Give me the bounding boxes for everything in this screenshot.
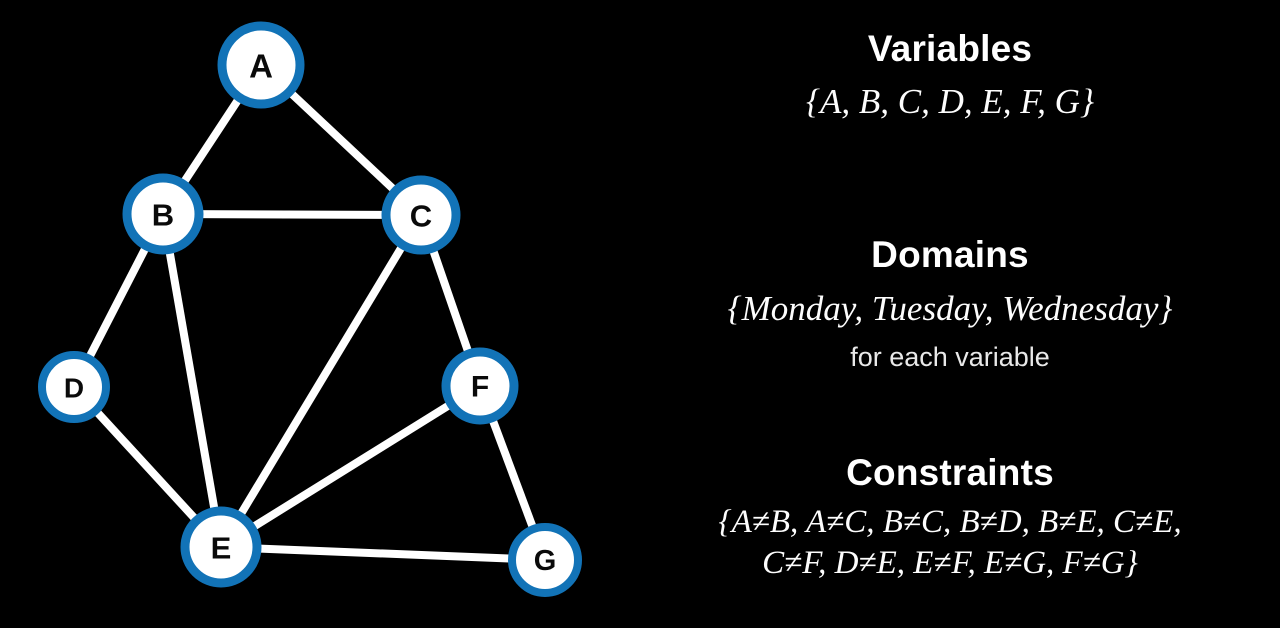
graph-node-d[interactable]: D [42, 355, 106, 419]
node-label-f: F [471, 371, 489, 404]
graph-node-a[interactable]: A [222, 26, 300, 104]
graph-edge-layer [74, 65, 545, 560]
graph-node-b[interactable]: B [127, 178, 199, 250]
graph-edge [221, 215, 421, 547]
definitions-panel: Variables {A, B, C, D, E, F, G} Domains … [620, 0, 1280, 628]
domains-heading: Domains [620, 234, 1280, 275]
graph-edge [221, 547, 545, 560]
node-label-d: D [64, 373, 84, 404]
constraints-heading: Constraints [620, 452, 1280, 493]
variables-heading: Variables [620, 28, 1280, 69]
constraint-graph-svg: ABCDEFG [0, 0, 620, 628]
domains-note: for each variable [620, 341, 1280, 373]
constraints-line-2: C≠F, D≠E, E≠F, E≠G, F≠G} [620, 543, 1280, 583]
node-label-c: C [410, 199, 432, 234]
graph-edge [221, 386, 480, 547]
node-label-a: A [249, 48, 273, 85]
node-label-b: B [152, 198, 174, 233]
graph-node-c[interactable]: C [386, 180, 456, 250]
node-label-g: G [534, 545, 557, 577]
graph-node-g[interactable]: G [512, 527, 578, 593]
constraint-graph-panel: ABCDEFG [0, 0, 620, 628]
constraints-block: Constraints {A≠B, A≠C, B≠C, B≠D, B≠E, C≠… [620, 452, 1280, 583]
variables-set: {A, B, C, D, E, F, G} [620, 81, 1280, 123]
node-label-e: E [211, 531, 232, 566]
variables-block: Variables {A, B, C, D, E, F, G} [620, 28, 1280, 123]
domains-block: Domains {Monday, Tuesday, Wednesday} for… [620, 234, 1280, 374]
domains-set: {Monday, Tuesday, Wednesday} [620, 288, 1280, 330]
graph-node-e[interactable]: E [185, 511, 257, 583]
graph-node-f[interactable]: F [446, 352, 514, 420]
constraints-line-1: {A≠B, A≠C, B≠C, B≠D, B≠E, C≠E, [620, 502, 1280, 542]
slide-canvas: ABCDEFG Variables {A, B, C, D, E, F, G} … [0, 0, 1280, 628]
